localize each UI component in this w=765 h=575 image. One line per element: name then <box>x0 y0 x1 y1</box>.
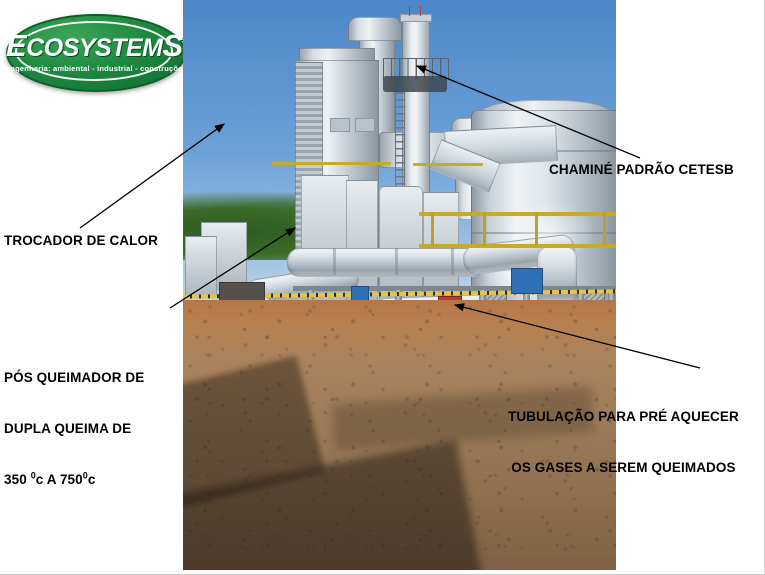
handrail-post <box>431 212 434 246</box>
handrail <box>271 162 391 165</box>
annotation-heat-exchanger: TROCADOR DE CALOR <box>4 232 158 249</box>
annotation-afterburner-line2: DUPLA QUEIMA DE <box>4 420 144 437</box>
document-page: ECOSYSTEMS engenharia: ambiental - indus… <box>0 0 765 575</box>
annotation-preheat-line2: OS GASES A SEREM QUEIMADOS <box>508 459 739 476</box>
heat-exchanger-hood <box>348 17 402 41</box>
logo-name-body: COSYSTEM <box>26 34 162 62</box>
handrail <box>413 163 483 166</box>
temp-mid: c A 750 <box>36 472 83 487</box>
logo-company-name: ECOSYSTEMS <box>6 33 182 61</box>
temp-unit: c <box>88 472 96 487</box>
handrail <box>419 244 616 248</box>
preheat-pipe <box>287 248 485 277</box>
handrail <box>419 212 616 216</box>
access-panel <box>330 118 350 132</box>
annotation-preheat-piping: TUBULAÇÃO PARA PRÉ AQUECER OS GASES A SE… <box>508 374 739 510</box>
logo-tagline: engenharia: ambiental - industrial - con… <box>6 64 182 73</box>
annotation-chimney: CHAMINÉ PADRÃO CETESB <box>549 161 734 178</box>
company-logo: ECOSYSTEMS engenharia: ambiental - indus… <box>6 14 182 88</box>
logo-initial-letter: E <box>6 28 26 63</box>
logo-final-letter: S <box>162 28 182 63</box>
annotation-afterburner-line1: PÓS QUEIMADOR DE <box>4 369 144 386</box>
pipe-band <box>333 248 336 275</box>
annotation-afterburner: PÓS QUEIMADOR DE DUPLA QUEIMA DE 350 0c … <box>4 335 144 522</box>
handrail-post <box>483 212 486 246</box>
pipe-band <box>395 248 398 275</box>
annotation-afterburner-line3: 350 0c A 7500c <box>4 471 144 488</box>
equipment-blue <box>511 268 543 294</box>
handrail-post <box>535 212 538 246</box>
process-column <box>379 186 423 300</box>
handrail-post <box>603 212 606 246</box>
preheat-pipe-riser <box>537 246 577 308</box>
chimney-antenna <box>409 6 421 16</box>
access-panel <box>355 118 375 132</box>
pipe-band <box>451 248 454 275</box>
side-tank <box>185 236 217 296</box>
chimney-platform-deck <box>383 76 447 92</box>
temp-from: 350 <box>4 472 31 487</box>
annotation-preheat-line1: TUBULAÇÃO PARA PRÉ AQUECER <box>508 408 739 425</box>
